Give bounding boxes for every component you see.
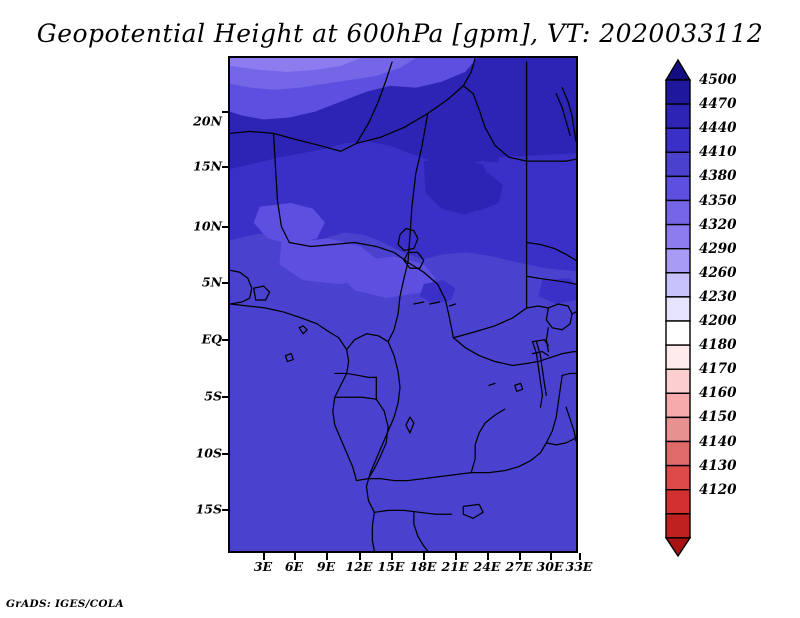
colorbar-band-13 — [666, 393, 690, 417]
colorbar-band-14 — [666, 417, 690, 441]
colorbar-label-4140: 4140 — [699, 434, 737, 450]
x-tick-mark-30E — [550, 553, 552, 560]
attribution-text: GrADS: IGES/COLA — [6, 598, 124, 610]
y-tick-label-5S: 5S — [204, 389, 222, 404]
x-axis-labels: 3E 6E 9E 12E 15E 18E 21E 24E 27E 30E 33E — [228, 559, 578, 577]
x-tick-mark-15E — [391, 553, 393, 560]
colorbar-band-16 — [666, 466, 690, 490]
y-tick-label-20N: 20N — [193, 114, 222, 129]
colorbar-label-4290: 4290 — [699, 241, 737, 257]
x-tick-mark-33E — [579, 553, 581, 560]
y-tick-label-15N: 15N — [193, 159, 222, 174]
colorbar: 4500 4470 4440 4410 4380 4350 4320 4290 … — [663, 58, 793, 558]
colorbar-band-9 — [666, 297, 690, 321]
x-tick-mark-18E — [423, 553, 425, 560]
colorbar-band-18 — [666, 514, 690, 538]
x-tick-mark-6E — [294, 553, 296, 560]
colorbar-band-15 — [666, 442, 690, 466]
colorbar-label-4440: 4440 — [699, 120, 737, 136]
y-axis-labels: 20N 15N 10N 5N EQ 5S 10S 15S — [190, 56, 222, 553]
colorbar-label-4150: 4150 — [699, 409, 737, 425]
y-tick-mark-15N — [222, 166, 229, 168]
colorbar-label-4180: 4180 — [699, 337, 737, 353]
x-tick-mark-3E — [263, 553, 265, 560]
colorbar-band-0 — [666, 80, 690, 104]
x-tick-mark-27E — [519, 553, 521, 560]
y-tick-mark-20N — [222, 111, 229, 113]
colorbar-label-4500: 4500 — [699, 72, 737, 88]
map-plot-area — [228, 56, 578, 553]
colorbar-label-4170: 4170 — [699, 361, 737, 377]
colorbar-band-12 — [666, 369, 690, 393]
y-tick-label-10N: 10N — [193, 219, 222, 234]
y-tick-mark-15S — [222, 509, 229, 511]
colorbar-label-4230: 4230 — [699, 289, 737, 305]
page-title: Geopotential Height at 600hPa [gpm], VT:… — [0, 19, 800, 48]
colorbar-band-6 — [666, 225, 690, 249]
x-tick-mark-9E — [326, 553, 328, 560]
colorbar-band-3 — [666, 152, 690, 176]
y-tick-label-10S: 10S — [196, 446, 222, 461]
x-tick-mark-12E — [359, 553, 361, 560]
colorbar-over-arrow — [666, 60, 690, 80]
colorbar-label-4200: 4200 — [699, 313, 737, 329]
colorbar-label-4470: 4470 — [699, 96, 737, 112]
y-tick-mark-10N — [222, 226, 229, 228]
colorbar-label-4260: 4260 — [699, 265, 737, 281]
colorbar-label-4350: 4350 — [699, 193, 737, 209]
colorbar-bands — [666, 60, 690, 556]
x-tick-label-9E: 9E — [317, 559, 335, 574]
colorbar-svg — [663, 58, 703, 558]
colorbar-band-10 — [666, 321, 690, 345]
y-tick-mark-5N — [222, 282, 229, 284]
x-tick-label-24E: 24E — [474, 559, 501, 574]
x-tick-label-18E: 18E — [410, 559, 437, 574]
map-svg — [230, 58, 576, 551]
colorbar-band-7 — [666, 249, 690, 273]
x-tick-label-21E: 21E — [442, 559, 469, 574]
y-tick-mark-5S — [222, 396, 229, 398]
y-tick-label-EQ: EQ — [202, 332, 222, 347]
y-tick-label-15S: 15S — [196, 502, 222, 517]
y-tick-label-5N: 5N — [202, 275, 222, 290]
colorbar-band-11 — [666, 345, 690, 369]
x-tick-label-33E: 33E — [566, 559, 593, 574]
x-tick-mark-21E — [455, 553, 457, 560]
colorbar-band-5 — [666, 201, 690, 225]
x-tick-label-30E: 30E — [537, 559, 564, 574]
colorbar-under-arrow — [666, 538, 690, 556]
colorbar-band-17 — [666, 490, 690, 514]
x-tick-label-3E: 3E — [254, 559, 272, 574]
colorbar-label-4380: 4380 — [699, 168, 737, 184]
x-tick-mark-24E — [487, 553, 489, 560]
x-tick-label-6E: 6E — [285, 559, 303, 574]
colorbar-label-4410: 4410 — [699, 144, 737, 160]
y-tick-mark-10S — [222, 453, 229, 455]
x-tick-label-12E: 12E — [346, 559, 373, 574]
colorbar-band-2 — [666, 128, 690, 152]
x-tick-label-27E: 27E — [506, 559, 533, 574]
x-tick-label-15E: 15E — [378, 559, 405, 574]
colorbar-label-4120: 4120 — [699, 482, 737, 498]
y-tick-mark-EQ — [222, 339, 229, 341]
colorbar-band-1 — [666, 104, 690, 128]
colorbar-band-8 — [666, 273, 690, 297]
colorbar-label-4320: 4320 — [699, 217, 737, 233]
colorbar-label-4160: 4160 — [699, 385, 737, 401]
colorbar-band-4 — [666, 176, 690, 200]
colorbar-label-4130: 4130 — [699, 458, 737, 474]
